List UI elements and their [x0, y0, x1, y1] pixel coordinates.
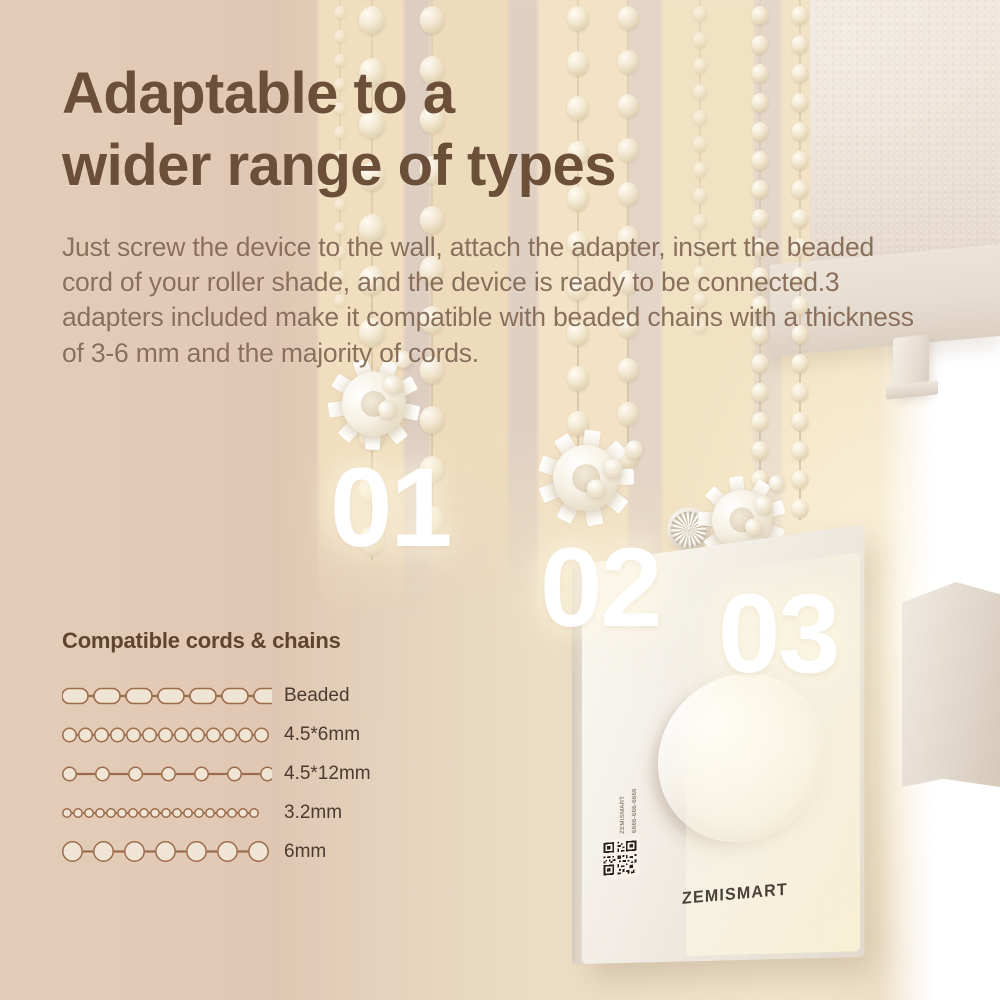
chain-bead — [792, 6, 809, 25]
chain-bead — [618, 50, 639, 74]
chain-bead — [792, 180, 809, 199]
chain-bead — [792, 151, 809, 170]
headline-line-2: wider range of types — [62, 130, 616, 202]
cord-row: 6mm — [62, 832, 412, 871]
chain-bead — [752, 64, 769, 83]
step-number-03: 03 — [718, 578, 839, 690]
chain-bead — [693, 188, 707, 204]
chain-bead — [792, 383, 809, 402]
chain-bead — [618, 182, 639, 206]
headline-line-1: Adaptable to a — [62, 58, 616, 130]
cord-diagram — [62, 684, 274, 708]
compatible-cords-title: Compatible cords & chains — [62, 628, 412, 654]
cord-label: 6mm — [274, 841, 326, 863]
chain-bead — [792, 122, 809, 141]
chain-bead — [792, 470, 809, 489]
chain-bead — [752, 151, 769, 170]
chain-bead — [618, 402, 639, 426]
cord-label: Beaded — [274, 685, 350, 707]
chain-adapter — [534, 426, 638, 530]
chain-bead — [752, 441, 769, 460]
cord-chain-svg — [62, 801, 272, 825]
cord-row: Beaded — [62, 676, 412, 715]
cord-row: 4.5*12mm — [62, 754, 412, 793]
chain-bead — [334, 30, 346, 43]
cord-label: 3.2mm — [274, 802, 342, 824]
chain-bead — [792, 441, 809, 460]
chain-bead — [618, 6, 639, 30]
chain-bead — [792, 412, 809, 431]
chain-bead — [752, 122, 769, 141]
chain-bead — [792, 209, 809, 228]
chain-bead — [693, 6, 707, 22]
chain-bead — [792, 499, 809, 518]
cord-label: 4.5*12mm — [274, 763, 371, 785]
cord-diagram — [62, 801, 274, 825]
step-number-02: 02 — [540, 532, 661, 644]
chain-bead — [334, 6, 346, 19]
cord-chain-svg — [62, 723, 272, 747]
chain-bead — [359, 6, 385, 35]
chain-bead — [693, 136, 707, 152]
product-marketing-image: ZEMISMART 6666-666-6666 — [0, 0, 1000, 1000]
chain-bead — [693, 58, 707, 74]
chain-bead — [693, 32, 707, 48]
qr-code-icon — [600, 836, 640, 879]
chain-bead — [752, 209, 769, 228]
chain-bead — [618, 94, 639, 118]
cord-chain-svg — [62, 762, 272, 786]
chain-bead — [618, 138, 639, 162]
cord-row: 4.5*6mm — [62, 715, 412, 754]
step-number-01: 01 — [330, 452, 451, 564]
device-label-brand: ZEMISMART — [620, 796, 626, 834]
chain-bead — [567, 6, 589, 31]
chain-bead — [752, 412, 769, 431]
chain-bead — [792, 35, 809, 54]
qr-code-svg — [602, 839, 638, 878]
chain-bead — [792, 64, 809, 83]
page-title: Adaptable to a wider range of types — [62, 58, 616, 202]
cord-chain-svg — [62, 839, 272, 864]
device-label-code: 6666-666-6666 — [632, 788, 638, 833]
chain-bead — [752, 180, 769, 199]
cord-chain-svg — [62, 684, 272, 708]
description-paragraph: Just screw the device to the wall, attac… — [62, 230, 922, 371]
chain-bead — [693, 214, 707, 230]
chain-bead — [693, 162, 707, 178]
compatible-cords-list: Beaded4.5*6mm4.5*12mm3.2mm6mm — [62, 676, 412, 871]
cord-diagram — [62, 762, 274, 786]
chain-bead — [693, 84, 707, 100]
chain-bead — [420, 6, 445, 34]
cord-label: 4.5*6mm — [274, 724, 360, 746]
chain-bead — [752, 93, 769, 112]
chain-bead — [693, 110, 707, 126]
chain-bead — [752, 383, 769, 402]
cord-diagram — [62, 723, 274, 747]
cord-row: 3.2mm — [62, 793, 412, 832]
chain-bead — [792, 93, 809, 112]
device-label: ZEMISMART 6666-666-6666 — [590, 750, 648, 904]
cord-diagram — [62, 839, 274, 864]
chain-bead — [752, 6, 769, 25]
compatible-cords-section: Compatible cords & chains Beaded4.5*6mm4… — [62, 628, 412, 871]
chain-bead — [752, 35, 769, 54]
